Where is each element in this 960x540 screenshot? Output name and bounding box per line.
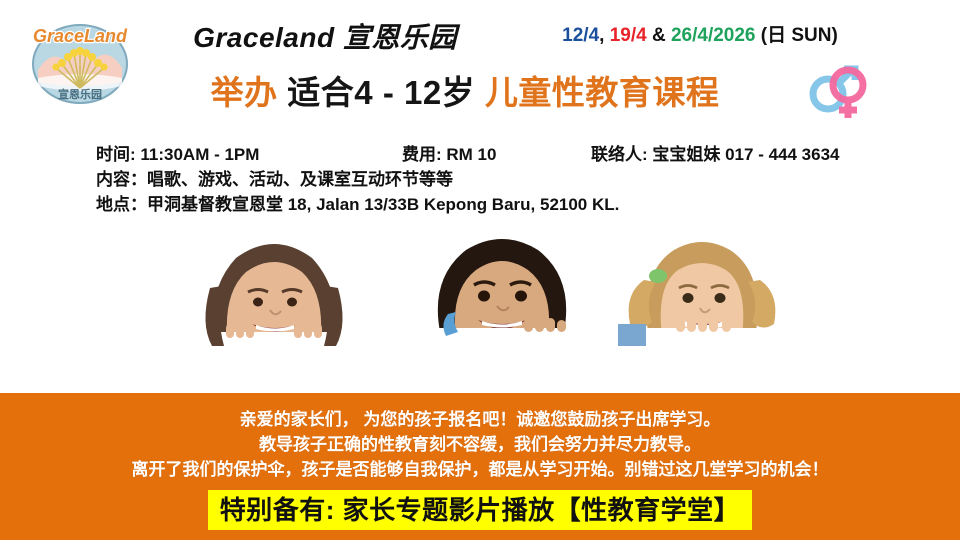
girl-peeking-photo — [190, 228, 358, 388]
banner-line-1: 亲爱的家长们， 为您的孩子报名吧！诚邀您鼓励孩子出席学习。 — [0, 407, 960, 432]
banner-line-3: 离开了我们的保护伞，孩子是否能够自我保护，都是从学习开始。别错过这几堂学习的机会… — [0, 457, 960, 482]
headline-part-2: 适合4 - 12岁 — [278, 74, 485, 111]
graceland-logo: GraceLand 宣恩乐园 — [24, 8, 136, 112]
event-dates: 12/4, 19/4 & 26/4/2026 (日 SUN) — [500, 20, 900, 47]
date-sep-2: & — [647, 25, 671, 46]
details-row-3: 地点：甲洞基督教宣恩堂 18, Jalan 13/33B Kepong Baru… — [96, 192, 886, 217]
photo-strip: 我很特别 I am Special 男女有别 We are different … — [0, 228, 960, 388]
event-details: 时间: 11:30AM - 1PM 费用: RM 10 联络人: 宝宝姐妹 01… — [96, 142, 886, 217]
logo-brand-en: GraceLand — [33, 26, 128, 46]
male-female-symbol-icon — [800, 58, 878, 122]
details-row-2: 内容：唱歌、游戏、活动、及课室互动环节等等 — [96, 167, 886, 192]
banner-line-2: 教导孩子正确的性教育刻不容缓，我们会努力并尽力教导。 — [0, 432, 960, 457]
girl-pigtails-peeking-photo — [618, 228, 786, 388]
highlight-wrap: 特别备有: 家长专题影片播放【性教育学堂】 — [0, 490, 960, 530]
call-to-action-banner: 亲爱的家长们， 为您的孩子报名吧！诚邀您鼓励孩子出席学习。 教导孩子正确的性教育… — [0, 393, 960, 540]
detail-fee: 费用: RM 10 — [402, 142, 496, 167]
date-2: 19/4 — [610, 25, 647, 46]
detail-venue: 地点：甲洞基督教宣恩堂 18, Jalan 13/33B Kepong Baru… — [96, 192, 619, 217]
headline: 举办 适合4 - 12岁 儿童性教育课程 — [150, 66, 780, 114]
date-3: 26/4/2026 — [671, 25, 756, 46]
details-row-1: 时间: 11:30AM - 1PM 费用: RM 10 联络人: 宝宝姐妹 01… — [96, 142, 886, 167]
detail-time: 时间: 11:30AM - 1PM — [96, 142, 259, 167]
headline-part-1: 举办 — [211, 74, 278, 111]
logo-brand-cn: 宣恩乐园 — [58, 87, 102, 101]
date-sep-1: , — [599, 25, 610, 46]
highlight-banner-text: 特别备有: 家长专题影片播放【性教育学堂】 — [208, 490, 752, 530]
detail-content: 内容：唱歌、游戏、活动、及课室互动环节等等 — [96, 167, 453, 192]
brand-title: Graceland 宣恩乐园 — [160, 16, 490, 56]
boy-peeking-photo — [418, 228, 586, 388]
date-1: 12/4 — [562, 25, 599, 46]
poster-root: GraceLand 宣恩乐园 Graceland 宣恩乐园 12/4, 19/4… — [0, 0, 960, 540]
detail-contact: 联络人: 宝宝姐妹 017 - 444 3634 — [591, 142, 839, 167]
date-day: (日 SUN) — [756, 25, 838, 46]
headline-part-3: 儿童性教育课程 — [485, 74, 720, 111]
